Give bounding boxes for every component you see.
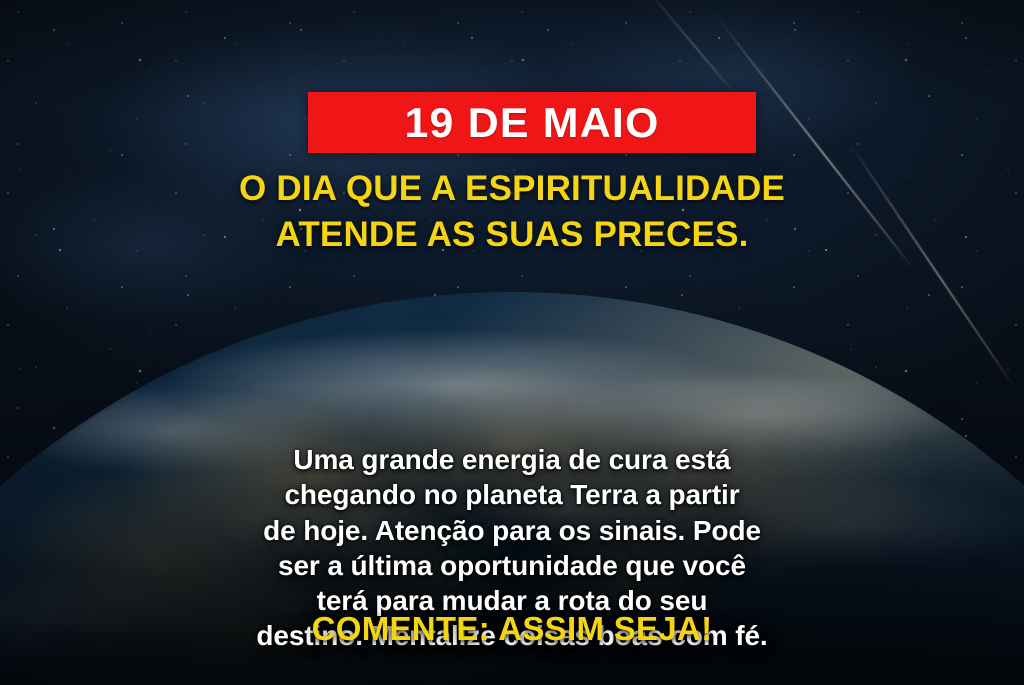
body-line-2: chegando no planeta Terra a partir bbox=[58, 477, 966, 512]
body-line-1: Uma grande energia de cura está bbox=[58, 442, 966, 477]
poster-content: 19 DE MAIO O DIA QUE A ESPIRITUALIDADE A… bbox=[0, 0, 1024, 685]
call-to-action-text: COMENTE: ASSIM SEJA! bbox=[0, 612, 1024, 645]
date-banner: 19 DE MAIO bbox=[308, 92, 756, 153]
body-line-4: ser a última oportunidade que você bbox=[58, 548, 966, 583]
headline-line-2: ATENDE AS SUAS PRECES. bbox=[0, 212, 1024, 258]
poster-canvas: 19 DE MAIO O DIA QUE A ESPIRITUALIDADE A… bbox=[0, 0, 1024, 685]
date-banner-text: 19 DE MAIO bbox=[404, 102, 659, 144]
body-line-3: de hoje. Atenção para os sinais. Pode bbox=[58, 513, 966, 548]
headline: O DIA QUE A ESPIRITUALIDADE ATENDE AS SU… bbox=[0, 166, 1024, 258]
headline-line-1: O DIA QUE A ESPIRITUALIDADE bbox=[0, 166, 1024, 212]
